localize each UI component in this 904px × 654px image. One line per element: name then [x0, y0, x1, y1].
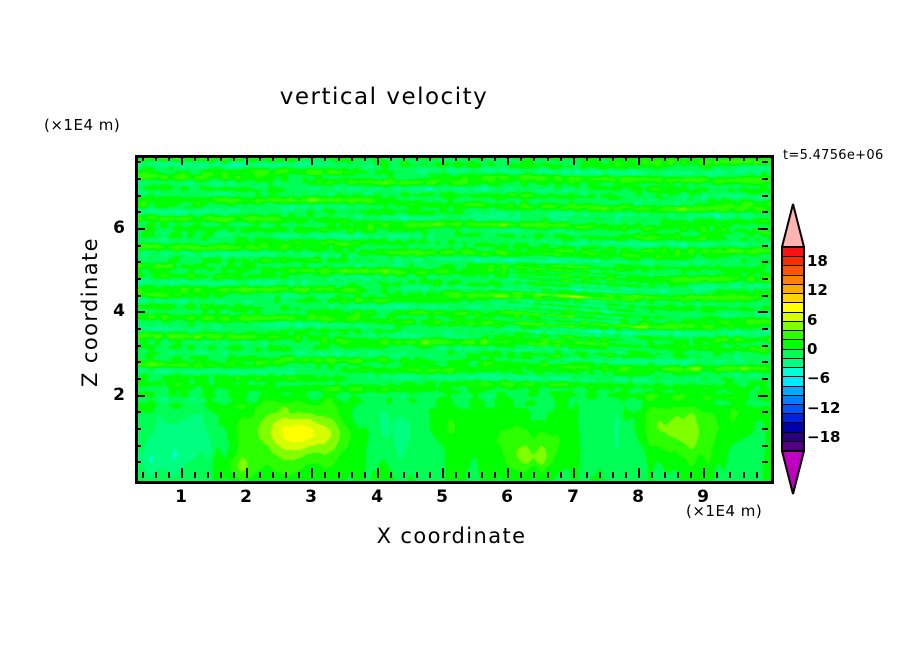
- x-axis-major-tick: [442, 468, 444, 478]
- x-axis-tick-label: 2: [240, 487, 252, 507]
- x-axis-major-tick: [246, 155, 248, 165]
- y-axis-minor-tick: [762, 445, 768, 447]
- x-axis-minor-tick: [494, 472, 496, 478]
- colorbar-cell: [783, 414, 803, 423]
- x-axis-minor-tick: [756, 155, 758, 161]
- x-axis-major-tick: [573, 468, 575, 478]
- x-axis-tick-label: 9: [697, 487, 709, 507]
- x-axis-major-tick: [311, 468, 313, 478]
- x-axis-minor-tick: [168, 472, 170, 478]
- x-axis-minor-tick: [285, 472, 287, 478]
- y-axis-minor-tick: [135, 295, 141, 297]
- y-axis-major-tick: [758, 395, 768, 397]
- x-axis-minor-tick: [547, 472, 549, 478]
- x-axis-minor-tick: [233, 155, 235, 161]
- colorbar-cell: [783, 285, 803, 294]
- x-axis-minor-tick: [351, 472, 353, 478]
- colorbar-cell: [783, 266, 803, 275]
- x-axis-tick-label: 1: [175, 487, 187, 507]
- x-axis-minor-tick: [481, 155, 483, 161]
- colorbar: 181260−6−12−18: [781, 203, 805, 495]
- timestamp-annotation: t=5.4756e+06: [783, 148, 884, 163]
- y-axis-tick-label: 2: [101, 385, 125, 405]
- x-axis-minor-tick: [743, 155, 745, 161]
- x-axis-minor-tick: [403, 472, 405, 478]
- x-axis-tick-label: 5: [436, 487, 448, 507]
- x-axis-minor-tick: [416, 155, 418, 161]
- colorbar-cell: [783, 257, 803, 266]
- x-axis-minor-tick: [403, 155, 405, 161]
- y-axis-major-tick: [758, 311, 768, 313]
- colorbar-tick-label: 0: [807, 340, 817, 358]
- x-axis-minor-tick: [155, 155, 157, 161]
- y-axis-major-tick: [758, 228, 768, 230]
- colorbar-tick-label: −18: [807, 428, 840, 446]
- x-axis-minor-tick: [259, 472, 261, 478]
- colorbar-cell: [783, 377, 803, 386]
- y-axis-minor-tick: [762, 345, 768, 347]
- x-axis-major-tick: [181, 155, 183, 165]
- y-axis-minor-tick: [762, 428, 768, 430]
- y-axis-minor-tick: [762, 245, 768, 247]
- y-axis-major-tick: [135, 228, 145, 230]
- colorbar-cell: [783, 442, 803, 450]
- x-axis-minor-tick: [338, 472, 340, 478]
- x-axis-minor-tick: [233, 472, 235, 478]
- x-axis-minor-tick: [194, 472, 196, 478]
- x-axis-major-tick: [442, 155, 444, 165]
- colorbar-cells: [781, 246, 805, 452]
- x-axis-major-tick: [246, 468, 248, 478]
- y-axis-minor-tick: [762, 328, 768, 330]
- y-axis-minor-tick: [762, 461, 768, 463]
- colorbar-tick-label: −12: [807, 399, 840, 417]
- colorbar-cell: [783, 359, 803, 368]
- x-axis-minor-tick: [690, 472, 692, 478]
- x-axis-minor-tick: [220, 155, 222, 161]
- x-axis-minor-tick: [142, 472, 144, 478]
- x-axis-minor-tick: [364, 472, 366, 478]
- x-axis-major-tick: [377, 468, 379, 478]
- x-axis-minor-tick: [612, 155, 614, 161]
- x-axis-minor-tick: [207, 155, 209, 161]
- x-axis-minor-tick: [272, 155, 274, 161]
- y-axis-minor-tick: [762, 261, 768, 263]
- x-axis-minor-tick: [324, 155, 326, 161]
- colorbar-cell: [783, 322, 803, 331]
- colorbar-cell: [783, 248, 803, 257]
- x-axis-minor-tick: [468, 155, 470, 161]
- x-axis-minor-tick: [651, 472, 653, 478]
- colorbar-cell: [783, 350, 803, 359]
- x-axis-minor-tick: [272, 472, 274, 478]
- x-axis-minor-tick: [351, 155, 353, 161]
- x-axis-major-tick: [181, 468, 183, 478]
- x-axis-minor-tick: [364, 155, 366, 161]
- y-axis-minor-tick: [762, 295, 768, 297]
- x-axis-major-tick: [507, 155, 509, 165]
- x-axis-minor-tick: [194, 155, 196, 161]
- x-axis-minor-tick: [338, 155, 340, 161]
- x-axis-major-tick: [703, 155, 705, 165]
- x-axis-minor-tick: [429, 472, 431, 478]
- y-axis-minor-tick: [135, 328, 141, 330]
- y-axis-major-tick: [135, 395, 145, 397]
- x-axis-minor-tick: [298, 155, 300, 161]
- x-axis-minor-tick: [324, 472, 326, 478]
- y-axis-minor-tick: [762, 411, 768, 413]
- x-axis-minor-tick: [560, 155, 562, 161]
- y-axis-minor-tick: [762, 378, 768, 380]
- x-axis-tick-label: 3: [305, 487, 317, 507]
- colorbar-cell: [783, 294, 803, 303]
- y-axis-minor-tick: [135, 278, 141, 280]
- x-axis-major-tick: [377, 155, 379, 165]
- y-axis-minor-tick: [135, 428, 141, 430]
- colorbar-cell: [783, 303, 803, 312]
- x-axis-minor-tick: [259, 155, 261, 161]
- x-axis-minor-tick: [455, 472, 457, 478]
- x-axis-minor-tick: [625, 155, 627, 161]
- colorbar-cell: [783, 368, 803, 377]
- x-axis-minor-tick: [155, 472, 157, 478]
- x-axis-minor-tick: [743, 472, 745, 478]
- y-axis-minor-tick: [135, 245, 141, 247]
- x-axis-minor-tick: [390, 472, 392, 478]
- x-axis-minor-tick: [664, 155, 666, 161]
- y-axis-minor-tick: [135, 461, 141, 463]
- y-axis-minor-tick: [135, 378, 141, 380]
- y-axis-minor-tick: [135, 345, 141, 347]
- x-axis-minor-tick: [494, 155, 496, 161]
- y-axis-minor-tick: [762, 211, 768, 213]
- contour-plot-area: [135, 155, 774, 484]
- y-axis-tick-label: 6: [101, 218, 125, 238]
- colorbar-cell: [783, 276, 803, 285]
- y-axis-minor-tick: [762, 361, 768, 363]
- y-axis-minor-tick: [135, 161, 141, 163]
- y-axis-minor-tick: [135, 195, 141, 197]
- colorbar-cell: [783, 387, 803, 396]
- x-axis-minor-tick: [677, 472, 679, 478]
- x-axis-minor-tick: [729, 155, 731, 161]
- x-axis-minor-tick: [533, 155, 535, 161]
- x-axis-minor-tick: [142, 155, 144, 161]
- x-axis-minor-tick: [429, 155, 431, 161]
- y-axis-tick-label: 4: [101, 301, 125, 321]
- x-axis-minor-tick: [651, 155, 653, 161]
- x-axis-minor-tick: [599, 155, 601, 161]
- y-axis-minor-tick: [135, 261, 141, 263]
- x-axis-minor-tick: [168, 155, 170, 161]
- y-axis-minor-tick: [135, 361, 141, 363]
- y-axis-unit-label: (×1E4 m): [44, 116, 120, 134]
- x-axis-title: X coordinate: [135, 524, 768, 548]
- x-axis-major-tick: [638, 155, 640, 165]
- x-axis-minor-tick: [520, 472, 522, 478]
- colorbar-tick-label: −6: [807, 369, 830, 387]
- x-axis-minor-tick: [586, 472, 588, 478]
- x-axis-minor-tick: [220, 472, 222, 478]
- colorbar-bottom-arrow-cap: [781, 450, 805, 495]
- x-axis-minor-tick: [481, 472, 483, 478]
- contour-field-canvas: [138, 158, 771, 481]
- x-axis-minor-tick: [533, 472, 535, 478]
- x-axis-major-tick: [507, 468, 509, 478]
- y-axis-minor-tick: [135, 211, 141, 213]
- y-axis-major-tick: [135, 311, 145, 313]
- x-axis-minor-tick: [586, 155, 588, 161]
- colorbar-cell: [783, 396, 803, 405]
- colorbar-cell: [783, 313, 803, 322]
- x-axis-minor-tick: [756, 472, 758, 478]
- x-axis-tick-label: 7: [567, 487, 579, 507]
- y-axis-minor-tick: [135, 445, 141, 447]
- x-axis-tick-label: 4: [371, 487, 383, 507]
- x-axis-minor-tick: [560, 472, 562, 478]
- x-axis-minor-tick: [285, 155, 287, 161]
- colorbar-cell: [783, 433, 803, 442]
- x-axis-minor-tick: [390, 155, 392, 161]
- colorbar-tick-label: 6: [807, 311, 817, 329]
- y-axis-title: Z coordinate: [78, 212, 102, 412]
- y-axis-minor-tick: [762, 161, 768, 163]
- colorbar-tick-label: 12: [807, 281, 828, 299]
- y-axis-minor-tick: [135, 178, 141, 180]
- x-axis-major-tick: [311, 155, 313, 165]
- x-axis-minor-tick: [207, 472, 209, 478]
- x-axis-minor-tick: [468, 472, 470, 478]
- x-axis-minor-tick: [625, 472, 627, 478]
- y-axis-minor-tick: [135, 411, 141, 413]
- x-axis-major-tick: [703, 468, 705, 478]
- x-axis-minor-tick: [547, 155, 549, 161]
- x-axis-minor-tick: [677, 155, 679, 161]
- x-axis-minor-tick: [298, 472, 300, 478]
- colorbar-cell: [783, 423, 803, 432]
- colorbar-cell: [783, 331, 803, 340]
- x-axis-tick-label: 6: [501, 487, 513, 507]
- y-axis-minor-tick: [762, 278, 768, 280]
- x-axis-minor-tick: [612, 472, 614, 478]
- x-axis-minor-tick: [664, 472, 666, 478]
- x-axis-minor-tick: [520, 155, 522, 161]
- colorbar-cell: [783, 340, 803, 349]
- y-axis-minor-tick: [762, 178, 768, 180]
- colorbar-cell: [783, 405, 803, 414]
- x-axis-minor-tick: [690, 155, 692, 161]
- colorbar-top-arrow-cap: [781, 203, 805, 248]
- x-axis-minor-tick: [729, 472, 731, 478]
- x-axis-major-tick: [573, 155, 575, 165]
- x-axis-minor-tick: [599, 472, 601, 478]
- y-axis-minor-tick: [762, 195, 768, 197]
- x-axis-minor-tick: [416, 472, 418, 478]
- x-axis-major-tick: [638, 468, 640, 478]
- page-title: vertical velocity: [0, 84, 768, 110]
- x-axis-tick-label: 8: [632, 487, 644, 507]
- x-axis-minor-tick: [716, 472, 718, 478]
- x-axis-minor-tick: [455, 155, 457, 161]
- colorbar-tick-label: 18: [807, 252, 828, 270]
- x-axis-minor-tick: [716, 155, 718, 161]
